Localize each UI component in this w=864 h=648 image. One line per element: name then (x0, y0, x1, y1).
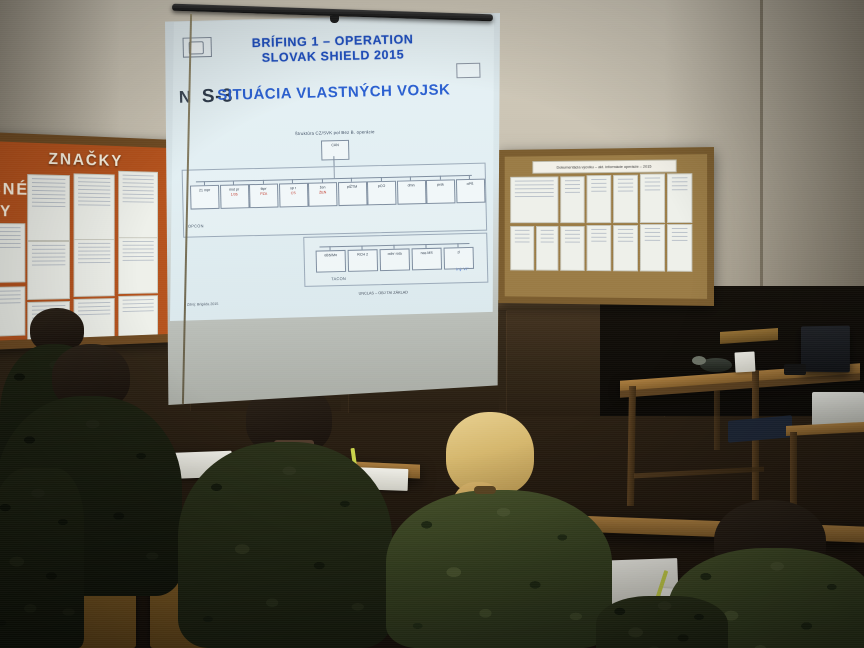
org-node-label: plŽTM (347, 185, 357, 189)
org-node: plŽTM (337, 181, 367, 206)
org-node-sublabel: 1/35 (221, 192, 248, 198)
org-connector (262, 180, 263, 184)
board-paper (560, 176, 584, 223)
org-connector (351, 178, 352, 182)
slide-title-line2: SLOVAK SHIELD 2015 (262, 47, 405, 64)
arm (0, 468, 84, 648)
torso (178, 442, 392, 648)
hair-tie (474, 486, 496, 494)
slide-title: BRÍFING 1 – OPERATION SLOVAK SHIELD 2015 (171, 30, 496, 68)
org-node-label: mot pr (229, 187, 239, 191)
desk-cup (692, 356, 706, 365)
org-node-label: ochr rota (388, 252, 402, 256)
notice-board-right: Dokumentácia výcviku – akt. informácie o… (498, 147, 714, 306)
org-node: ženŽEN (308, 182, 338, 207)
secondary-emblem-icon (456, 63, 480, 79)
board-paper (118, 237, 158, 294)
board-left-header-fragment: ČNÉ (0, 179, 29, 200)
table-leg (790, 432, 797, 510)
org-connector (439, 176, 440, 180)
org-node-label: prsk (437, 183, 444, 187)
laptop[interactable] (801, 326, 850, 373)
slide-footer-left: Zdroj: Brigáda 2015 (187, 302, 219, 307)
org-group-label-tacon: TACON (331, 276, 346, 281)
board-paper (667, 224, 692, 272)
org-node-label: pCO (378, 184, 385, 188)
org-node-label: dmn (408, 183, 415, 187)
org-node: 21 mpr (190, 185, 220, 210)
board-paper (27, 241, 70, 300)
org-connector (457, 243, 458, 247)
org-connector (410, 176, 411, 180)
org-node: oPŠ (455, 179, 485, 204)
board-paper (667, 173, 692, 223)
board-paper (510, 176, 558, 223)
org-connector (292, 179, 293, 183)
org-connector (393, 245, 394, 249)
board-paper (587, 175, 612, 223)
board-right-title: Dokumentácia výcviku – akt. informácie o… (532, 159, 676, 173)
org-group-label-opcon: OPCON (188, 223, 204, 228)
org-node: oBS/Mo (316, 250, 347, 273)
org-node-label: oPŠ (467, 182, 474, 186)
org-node: RCH 2 (348, 249, 379, 272)
board-paper (587, 225, 612, 271)
board-paper (536, 226, 558, 271)
org-connector (321, 178, 322, 182)
org-node-sublabel: CS (280, 191, 307, 197)
org-connector (469, 175, 470, 179)
org-node-label: žen (320, 185, 326, 189)
board-paper (0, 223, 25, 283)
screen-roller-knob (330, 16, 339, 23)
org-node: tkprPZA (249, 184, 279, 209)
org-connector (233, 181, 234, 185)
org-node: ochr rota (380, 248, 411, 271)
org-node-sublabel: ŽEN (309, 190, 336, 196)
board-left-header: ZNAČKY (0, 147, 171, 172)
laptop-mouse[interactable] (784, 364, 806, 375)
org-node: pCO (367, 181, 397, 206)
notice-board-left: ZNAČKY ČNÉ KY (0, 132, 179, 350)
org-connector (380, 177, 381, 181)
org-connector (329, 246, 330, 250)
org-node-label: nas MS (421, 251, 433, 255)
org-node: zl (444, 247, 475, 270)
org-node-sublabel: PZA (250, 192, 277, 198)
board-paper (0, 286, 25, 337)
org-node: sp rCS (278, 183, 308, 208)
org-node-label: RCH 2 (357, 252, 368, 256)
org-node-label: sp r (290, 186, 296, 190)
slide-subtitle: SITUÁCIA VLASTNÝCH VOJSK (172, 80, 496, 105)
briefing-room-photo: ZNAČKY ČNÉ KY Dokumentácia výcviku – akt… (0, 0, 864, 648)
org-node-label: 21 mpr (199, 188, 210, 192)
board-paper (613, 175, 638, 223)
org-node: nas MS (412, 248, 443, 271)
desk-note-card (734, 351, 755, 372)
board-paper (613, 225, 638, 271)
org-node-label: tkpr (261, 187, 267, 191)
board-left-header-fragment-2: KY (0, 203, 12, 221)
org-connector (425, 244, 426, 248)
board-paper (640, 224, 665, 272)
org-node-label: zl (457, 250, 460, 254)
org-node-root: CAN (321, 140, 349, 161)
board-paper (118, 295, 158, 340)
board-paper (118, 171, 158, 239)
torso (386, 490, 612, 648)
org-connector (203, 181, 204, 185)
board-paper (74, 239, 115, 297)
board-paper (27, 174, 70, 241)
board-paper (510, 226, 534, 271)
org-node: prsk (426, 179, 456, 204)
slide-content: N S-3 BRÍFING 1 – OPERATION SLOVAK SHIEL… (170, 8, 501, 321)
board-paper (74, 173, 115, 241)
table-leg (714, 390, 720, 450)
board-paper (560, 226, 584, 271)
org-connector (361, 246, 362, 250)
slide-footer-right: UNCLAS – OBJ TAI ZÁKLAD (359, 290, 409, 295)
projector-unit (812, 392, 864, 426)
org-node: mot pr1/35 (219, 184, 249, 209)
org-node: dmn (396, 180, 426, 205)
board-paper (640, 173, 665, 223)
shoulder (596, 596, 728, 648)
org-node-label: oBS/Mo (324, 253, 337, 257)
org-chart: CAN OPCON 21 mprmot pr1/35tkprPZAsp rCSž… (173, 132, 500, 290)
room-corner (760, 0, 763, 330)
